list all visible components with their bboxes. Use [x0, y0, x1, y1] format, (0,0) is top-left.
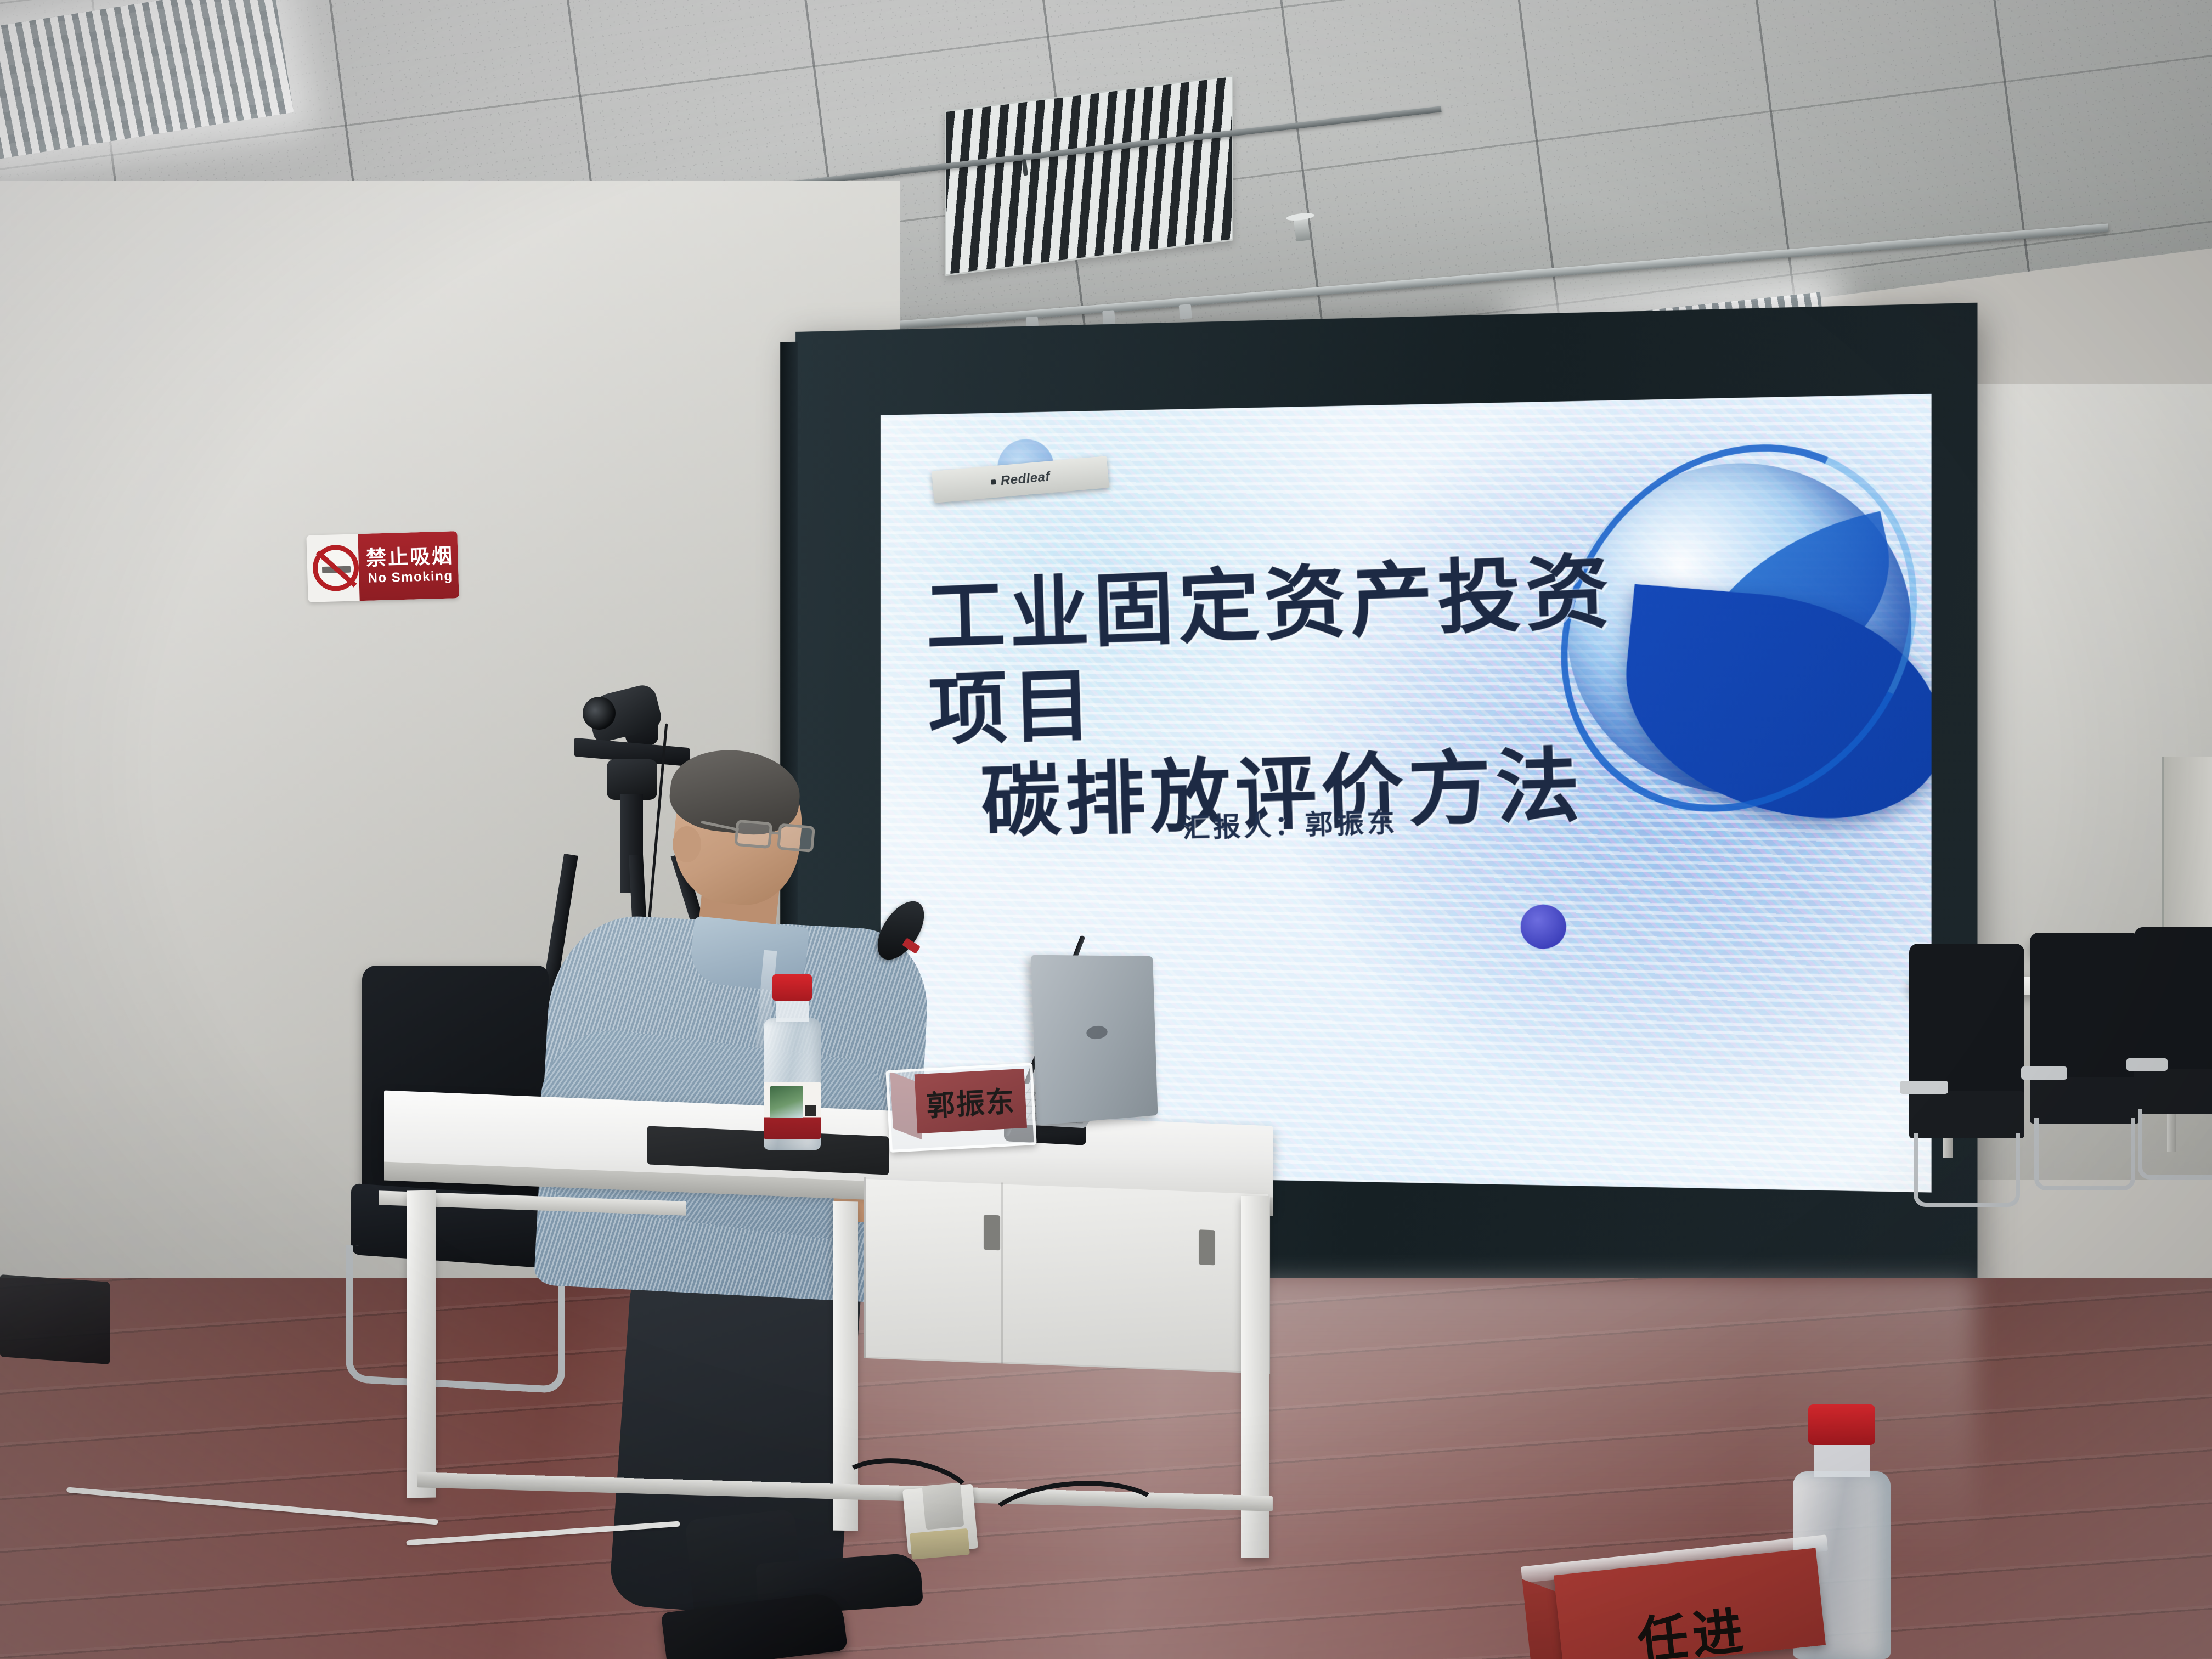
laptop-logo-icon — [1086, 1025, 1108, 1040]
side-chair-1[interactable] — [1909, 944, 2024, 1207]
no-smoking-text: 禁止吸烟 No Smoking — [358, 531, 459, 601]
laptop-lid — [1031, 955, 1158, 1126]
bottle-label — [764, 1082, 821, 1139]
desk-leg-left — [407, 1190, 436, 1498]
water-bottle-desk[interactable] — [761, 974, 823, 1150]
brand-dot-icon — [991, 479, 996, 484]
nameplate-foreground-text: 任进 — [1634, 1590, 1751, 1659]
side-chair-2[interactable] — [2030, 933, 2140, 1190]
nameplate-speaker: 郭振东 — [885, 1063, 1036, 1153]
floor-speaker-box — [0, 1274, 110, 1364]
slide-title-line1: 工业固定资产投资项目 — [924, 541, 1678, 758]
slide-presenter-label: 汇报人：郭振东 — [1182, 801, 1398, 846]
nameplate-foreground: 任进 — [1554, 1548, 1826, 1659]
side-chair-3[interactable] — [2134, 927, 2212, 1180]
fire-sprinkler-icon — [1293, 216, 1310, 242]
no-smoking-chinese: 禁止吸烟 — [366, 545, 454, 568]
display-brand-label: Redleaf — [1000, 469, 1051, 489]
no-smoking-english: No Smoking — [368, 568, 453, 586]
no-smoking-sign: 禁止吸烟 No Smoking — [306, 531, 459, 602]
bottle-cap-icon-2 — [1808, 1404, 1875, 1445]
no-smoking-icon — [312, 544, 359, 591]
photo-scene: 禁止吸烟 No Smoking 工业固定资产投资项目 — [0, 0, 2212, 1659]
bottle-cap-icon — [772, 974, 812, 1001]
nameplate-speaker-text: 郭振东 — [926, 1078, 1017, 1124]
air-vent-icon — [945, 75, 1233, 276]
qr-code-icon — [805, 1105, 816, 1116]
desk-cabinet — [864, 1177, 1270, 1374]
